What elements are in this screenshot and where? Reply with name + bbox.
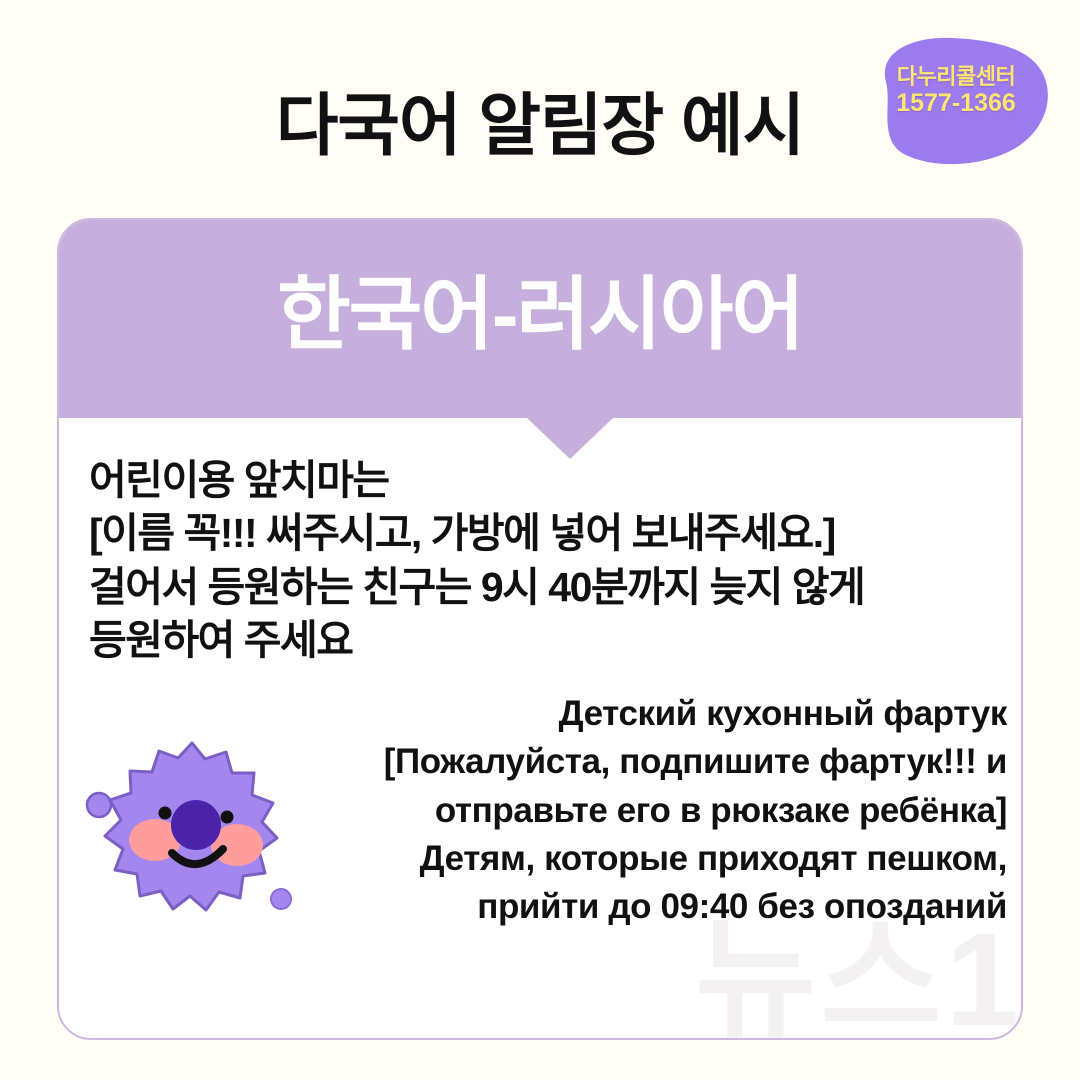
korean-line: 어린이용 앞치마는 (89, 454, 989, 507)
badge-phone: 1577-1366 (856, 89, 1056, 118)
badge-text-group: 다누리콜센터 1577-1366 (856, 64, 1056, 118)
notice-card: 한국어-러시아어 어린이용 앞치마는 [이름 꼭!!! 써주시고, 가방에 넣어… (57, 218, 1023, 1040)
russian-line: Детский кухонный фартук (227, 690, 1007, 738)
korean-line: 걸어서 등원하는 친구는 9시 40분까지 늦지 않게 (89, 561, 989, 614)
watermark: 뉴스1 (659, 920, 1023, 1040)
korean-line: [이름 꼭!!! 써주시고, 가방에 넣어 보내주세요.] (89, 507, 989, 560)
russian-line: Детям, которые приходят пешком, (227, 835, 1007, 883)
korean-line: 등원하여 주세요 (89, 614, 989, 667)
card-header-banner: 한국어-러시아어 (59, 220, 1021, 418)
korean-notice-text: 어린이용 앞치마는 [이름 꼭!!! 써주시고, 가방에 넣어 보내주세요.] … (89, 454, 989, 667)
language-pair-label: 한국어-러시아어 (277, 275, 803, 355)
russian-notice-text: Детский кухонный фартук [Пожалуйста, под… (227, 690, 1007, 931)
russian-line: отправьте его в рюкзаке ребёнка] (227, 787, 1007, 835)
russian-line: [Пожалуйста, подпишите фартук!!! и (227, 738, 1007, 786)
poster-root: 다국어 알림장 예시 다누리콜센터 1577-1366 한국어-러시아어 어린이… (0, 0, 1080, 1080)
header-tail-arrow (527, 418, 613, 459)
badge-name: 다누리콜센터 (856, 64, 1056, 89)
danuri-callcenter-badge: 다누리콜센터 1577-1366 (856, 30, 1056, 170)
